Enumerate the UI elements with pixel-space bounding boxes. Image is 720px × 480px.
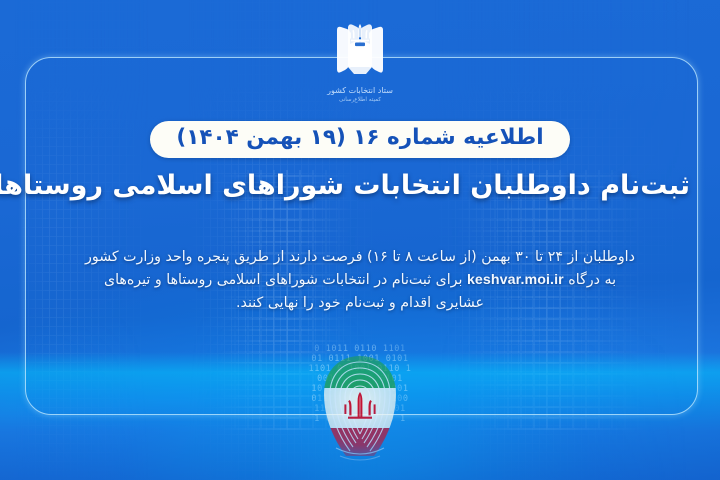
body-line-3: عشایری اقدام و ثبت‌نام خود را نهایی کنند… [34,292,686,315]
fingerprint-iran-flag-icon [296,348,424,468]
notice-number-badge: اطلاعیه شماره ۱۶ (۱۹ بهمن ۱۴۰۴) [150,121,569,158]
body-line-2: به درگاه keshvar.moi.ir برای ثبت‌نام در … [34,269,686,292]
notice-badge-row: اطلاعیه شماره ۱۶ (۱۹ بهمن ۱۴۰۴) [0,121,720,158]
emblem-organization-label: ستاد انتخابات کشور [327,86,393,96]
poster-headline: ثبت‌نام داوطلبان انتخابات شوراهای اسلامی… [30,168,690,204]
election-headquarters-emblem: ستاد انتخابات کشور کمیته اطلاع‌رسانی [0,18,720,118]
ballot-box-shield-icon [323,18,397,84]
registration-portal-url[interactable]: keshvar.moi.ir [467,269,564,292]
body-line-1: داوطلبان از ۲۴ تا ۳۰ بهمن (از ساعت ۸ تا … [34,246,686,269]
emblem-unit-label: کمیته اطلاع‌رسانی [339,97,381,103]
body-line-2-prefix: به درگاه [564,272,616,288]
fingerprint-seal [296,348,424,468]
announcement-poster: ستاد انتخابات کشور کمیته اطلاع‌رسانی اطل… [0,0,720,480]
poster-body-text: داوطلبان از ۲۴ تا ۳۰ بهمن (از ساعت ۸ تا … [34,246,686,315]
body-line-2-suffix: برای ثبت‌نام در انتخابات شوراهای اسلامی … [104,272,467,288]
